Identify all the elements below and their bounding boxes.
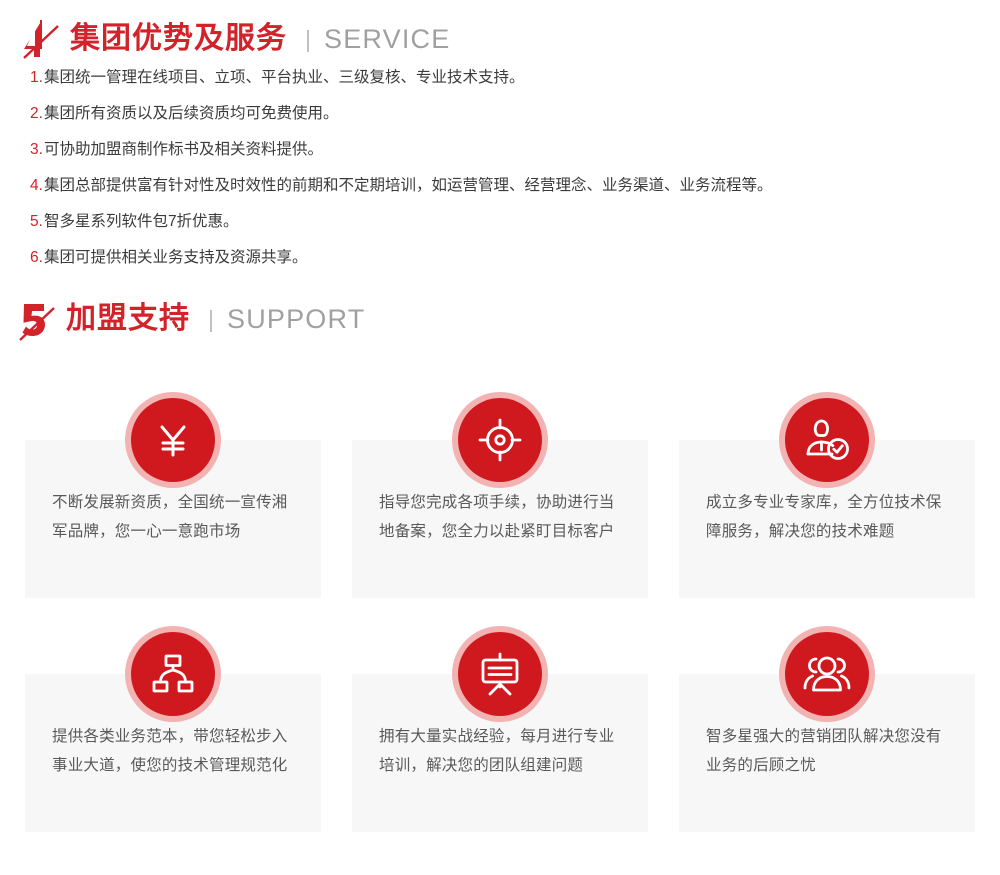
list-item: 3. 可协助加盟商制作标书及相关资料提供。 <box>30 142 990 178</box>
support-card: 不断发展新资质，全国统一宣传湘军品牌，您一心一意跑市场 <box>25 440 321 598</box>
org-chart-icon <box>125 626 221 722</box>
list-item: 5. 智多星系列软件包7折优惠。 <box>30 214 990 250</box>
list-item-text: 可协助加盟商制作标书及相关资料提供。 <box>44 142 990 158</box>
section-header-support: 加盟支持 | SUPPORT <box>14 296 365 342</box>
list-item-index: 1. <box>30 70 43 86</box>
support-cards-row-2: 提供各类业务范本，带您轻松步入事业大道，使您的技术管理规范化 <box>25 674 975 832</box>
support-card-text: 智多星强大的营销团队解决您没有业务的后顾之忧 <box>706 722 948 780</box>
list-item-index: 4. <box>30 178 43 194</box>
yuan-currency-icon <box>125 392 221 488</box>
list-item-index: 3. <box>30 142 43 158</box>
support-card-text: 成立多专业专家库，全方位技术保障服务，解决您的技术难题 <box>706 488 948 546</box>
support-card: 智多星强大的营销团队解决您没有业务的后顾之忧 <box>679 674 975 832</box>
support-cards-grid: 不断发展新资质，全国统一宣传湘军品牌，您一心一意跑市场 <box>25 440 975 832</box>
list-item-text: 集团统一管理在线项目、立项、平台执业、三级复核、专业技术支持。 <box>44 70 990 86</box>
section-header-service: 集团优势及服务 | SERVICE <box>18 16 450 62</box>
list-item: 6. 集团可提供相关业务支持及资源共享。 <box>30 250 990 286</box>
user-group-icon <box>779 626 875 722</box>
support-card: 成立多专业专家库，全方位技术保障服务，解决您的技术难题 <box>679 440 975 598</box>
section-title-cn: 集团优势及服务 <box>70 24 287 54</box>
list-item: 2. 集团所有资质以及后续资质均可免费使用。 <box>30 106 990 142</box>
list-item: 1. 集团统一管理在线项目、立项、平台执业、三级复核、专业技术支持。 <box>30 70 990 106</box>
list-item-index: 5. <box>30 214 43 230</box>
support-card-text: 不断发展新资质，全国统一宣传湘军品牌，您一心一意跑市场 <box>52 488 294 546</box>
list-item-text: 智多星系列软件包7折优惠。 <box>44 214 990 230</box>
service-advantages-list: 1. 集团统一管理在线项目、立项、平台执业、三级复核、专业技术支持。 2. 集团… <box>30 70 990 286</box>
list-item-index: 2. <box>30 106 43 122</box>
section-number-5-icon <box>14 296 60 342</box>
support-card: 指导您完成各项手续，协助进行当地备案，您全力以赴紧盯目标客户 <box>352 440 648 598</box>
list-item-text: 集团总部提供富有针对性及时效性的前期和不定期培训，如运营管理、经营理念、业务渠道… <box>44 178 990 194</box>
support-card-text: 提供各类业务范本，带您轻松步入事业大道，使您的技术管理规范化 <box>52 722 294 780</box>
presentation-board-icon <box>452 626 548 722</box>
section-separator: | <box>208 308 214 331</box>
section-number-4-icon <box>18 16 64 62</box>
support-card-text: 拥有大量实战经验，每月进行专业培训，解决您的团队组建问题 <box>379 722 621 780</box>
list-item: 4. 集团总部提供富有针对性及时效性的前期和不定期培训，如运营管理、经营理念、业… <box>30 178 990 214</box>
support-card: 拥有大量实战经验，每月进行专业培训，解决您的团队组建问题 <box>352 674 648 832</box>
target-crosshair-icon <box>452 392 548 488</box>
list-item-index: 6. <box>30 250 43 266</box>
section-title-en: SUPPORT <box>227 306 365 333</box>
support-card: 提供各类业务范本，带您轻松步入事业大道，使您的技术管理规范化 <box>25 674 321 832</box>
support-cards-row-1: 不断发展新资质，全国统一宣传湘军品牌，您一心一意跑市场 <box>25 440 975 598</box>
page-root: 集团优势及服务 | SERVICE 1. 集团统一管理在线项目、立项、平台执业、… <box>0 0 1000 875</box>
list-item-text: 集团所有资质以及后续资质均可免费使用。 <box>44 106 990 122</box>
section-title-en: SERVICE <box>324 26 450 53</box>
section-separator: | <box>305 28 311 51</box>
list-item-text: 集团可提供相关业务支持及资源共享。 <box>44 250 990 266</box>
support-card-text: 指导您完成各项手续，协助进行当地备案，您全力以赴紧盯目标客户 <box>379 488 621 546</box>
section-title-cn: 加盟支持 <box>66 304 190 334</box>
verified-person-icon <box>779 392 875 488</box>
